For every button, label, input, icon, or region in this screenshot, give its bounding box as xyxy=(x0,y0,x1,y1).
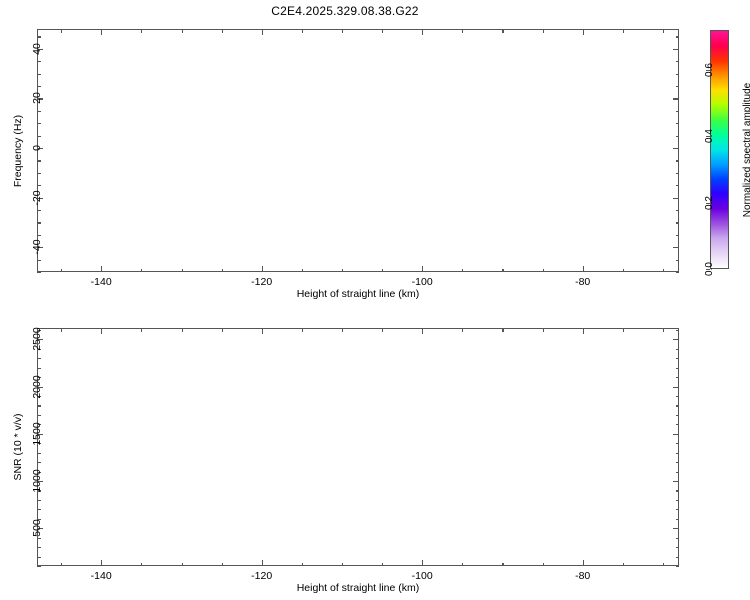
axis-tick xyxy=(222,328,223,332)
axis-tick xyxy=(61,328,62,332)
axis-tick xyxy=(37,136,41,137)
axis-tick xyxy=(663,328,664,332)
axis-tick xyxy=(673,148,679,149)
axis-tick xyxy=(37,500,41,501)
axis-tick xyxy=(676,123,680,124)
axis-tick xyxy=(663,563,664,567)
axis-tick xyxy=(37,36,41,37)
axis-tick xyxy=(37,123,41,124)
colorbar-tick-label: 0.0 xyxy=(704,262,715,276)
axis-tick xyxy=(673,98,679,99)
axis-tick xyxy=(101,29,102,35)
axis-tick xyxy=(676,405,680,406)
axis-tick xyxy=(182,29,183,33)
axis-tick xyxy=(342,269,343,273)
axis-tick xyxy=(222,269,223,273)
axis-tick xyxy=(676,443,680,444)
axis-tick xyxy=(37,405,41,406)
axis-tick xyxy=(583,29,584,35)
axis-tick xyxy=(222,563,223,567)
x-tick-label: -100 xyxy=(412,570,433,582)
axis-tick xyxy=(502,269,503,273)
x-tick-label: -100 xyxy=(412,276,433,288)
axis-tick xyxy=(37,538,41,539)
axis-tick xyxy=(673,247,679,248)
axis-tick xyxy=(302,29,303,33)
axis-tick xyxy=(583,328,584,334)
colorbar-tick-label: 0.6 xyxy=(704,63,715,77)
axis-tick xyxy=(502,328,503,332)
axis-tick xyxy=(676,472,680,473)
axis-tick xyxy=(663,269,664,273)
axis-tick xyxy=(342,328,343,332)
axis-tick xyxy=(422,328,423,334)
x-tick-label: -140 xyxy=(91,276,112,288)
axis-tick xyxy=(37,415,41,416)
axis-tick xyxy=(673,528,679,529)
axis-tick xyxy=(676,61,680,62)
colorbar-tick-label: 0.2 xyxy=(704,196,715,210)
axis-tick xyxy=(382,29,383,33)
x-tick-label: -120 xyxy=(251,276,272,288)
spectrogram-frame xyxy=(37,29,679,272)
y-tick-label: 20 xyxy=(31,93,43,105)
axis-tick xyxy=(502,29,503,33)
axis-tick xyxy=(543,269,544,273)
axis-tick xyxy=(422,266,423,272)
y-tick-label: 2000 xyxy=(31,375,43,398)
axis-tick xyxy=(676,272,680,273)
axis-tick xyxy=(262,266,263,272)
axis-tick xyxy=(623,269,624,273)
axis-tick xyxy=(141,563,142,567)
axis-tick xyxy=(101,328,102,334)
axis-tick xyxy=(673,339,679,340)
axis-tick xyxy=(37,453,41,454)
axis-tick xyxy=(676,547,680,548)
axis-tick xyxy=(382,328,383,332)
axis-tick xyxy=(141,269,142,273)
axis-tick xyxy=(37,358,41,359)
axis-tick xyxy=(676,509,680,510)
axis-tick xyxy=(222,29,223,33)
y-tick-label: 0 xyxy=(31,145,43,151)
x-tick-label: -80 xyxy=(575,276,590,288)
axis-tick xyxy=(302,328,303,332)
axis-tick xyxy=(141,328,142,332)
axis-tick xyxy=(37,173,41,174)
axis-tick xyxy=(37,462,41,463)
axis-tick xyxy=(623,563,624,567)
axis-tick xyxy=(182,563,183,567)
axis-tick xyxy=(462,328,463,332)
axis-tick xyxy=(676,462,680,463)
axis-tick xyxy=(676,415,680,416)
axis-tick xyxy=(37,547,41,548)
axis-tick xyxy=(676,500,680,501)
colorbar-tick-label: 0.4 xyxy=(704,129,715,143)
figure-title: C2E4.2025.329.08.38.G22 xyxy=(0,4,690,18)
y-tick-label: -20 xyxy=(31,190,43,205)
axis-tick xyxy=(676,557,680,558)
axis-tick xyxy=(623,328,624,332)
axis-tick xyxy=(37,222,41,223)
axis-tick xyxy=(676,185,680,186)
y-tick-label: 40 xyxy=(31,43,43,55)
axis-tick xyxy=(676,74,680,75)
y-tick-label: -40 xyxy=(31,240,43,255)
axis-tick xyxy=(462,269,463,273)
axis-tick xyxy=(61,269,62,273)
snr-frame xyxy=(37,328,679,566)
axis-tick xyxy=(342,29,343,33)
axis-tick xyxy=(37,260,41,261)
axis-tick xyxy=(676,160,680,161)
axis-tick xyxy=(676,349,680,350)
axis-tick xyxy=(673,198,679,199)
axis-tick xyxy=(676,111,680,112)
axis-tick xyxy=(37,74,41,75)
axis-tick xyxy=(262,560,263,566)
axis-tick xyxy=(676,396,680,397)
axis-tick xyxy=(382,269,383,273)
axis-tick xyxy=(37,160,41,161)
axis-tick xyxy=(37,566,41,567)
axis-tick xyxy=(37,111,41,112)
axis-tick xyxy=(37,235,41,236)
axis-tick xyxy=(583,560,584,566)
axis-tick xyxy=(543,29,544,33)
axis-tick xyxy=(623,29,624,33)
axis-tick xyxy=(61,29,62,33)
spectrogram-yaxis-title: Frequency (Hz) xyxy=(12,115,24,187)
axis-tick xyxy=(676,538,680,539)
axis-tick xyxy=(182,269,183,273)
axis-tick xyxy=(37,61,41,62)
axis-tick xyxy=(37,557,41,558)
axis-tick xyxy=(262,328,263,334)
axis-tick xyxy=(37,368,41,369)
axis-tick xyxy=(422,560,423,566)
axis-tick xyxy=(676,424,680,425)
axis-tick xyxy=(663,29,664,33)
axis-tick xyxy=(583,266,584,272)
axis-tick xyxy=(502,563,503,567)
axis-tick xyxy=(676,377,680,378)
spectrogram-panel xyxy=(37,29,679,272)
axis-tick xyxy=(182,328,183,332)
axis-tick xyxy=(37,210,41,211)
axis-tick xyxy=(676,566,680,567)
x-tick-label: -120 xyxy=(251,570,272,582)
axis-tick xyxy=(676,490,680,491)
axis-tick xyxy=(673,434,679,435)
axis-tick xyxy=(37,185,41,186)
axis-tick xyxy=(37,509,41,510)
axis-tick xyxy=(676,36,680,37)
axis-tick xyxy=(37,272,41,273)
snr-panel xyxy=(37,328,679,566)
colorbar-title: Normalized spectral amplitude xyxy=(742,83,750,218)
x-tick-label: -140 xyxy=(91,570,112,582)
axis-tick xyxy=(676,136,680,137)
axis-tick xyxy=(302,269,303,273)
axis-tick xyxy=(462,563,463,567)
y-tick-label: 500 xyxy=(31,519,43,537)
axis-tick xyxy=(342,563,343,567)
axis-tick xyxy=(101,266,102,272)
spectrogram-xaxis-title: Height of straight line (km) xyxy=(297,288,420,300)
axis-tick xyxy=(676,368,680,369)
axis-tick xyxy=(422,29,423,35)
y-tick-label: 1000 xyxy=(31,469,43,492)
axis-tick xyxy=(141,29,142,33)
axis-tick xyxy=(676,173,680,174)
axis-tick xyxy=(543,563,544,567)
axis-tick xyxy=(37,86,41,87)
axis-tick xyxy=(676,222,680,223)
axis-tick xyxy=(676,330,680,331)
axis-tick xyxy=(676,358,680,359)
x-tick-label: -80 xyxy=(575,570,590,582)
axis-tick xyxy=(676,235,680,236)
axis-tick xyxy=(673,49,679,50)
axis-tick xyxy=(673,481,679,482)
axis-tick xyxy=(676,210,680,211)
axis-tick xyxy=(61,563,62,567)
y-tick-label: 1500 xyxy=(31,422,43,445)
axis-tick xyxy=(101,560,102,566)
axis-tick xyxy=(676,519,680,520)
axis-tick xyxy=(676,453,680,454)
axis-tick xyxy=(302,563,303,567)
axis-tick xyxy=(262,29,263,35)
snr-yaxis-title: SNR (10 * v/v) xyxy=(12,413,24,480)
axis-tick xyxy=(676,260,680,261)
axis-tick xyxy=(676,86,680,87)
axis-tick xyxy=(382,563,383,567)
snr-xaxis-title: Height of straight line (km) xyxy=(297,582,420,594)
y-tick-label: 2500 xyxy=(31,328,43,351)
axis-tick xyxy=(543,328,544,332)
axis-tick xyxy=(673,387,679,388)
axis-tick xyxy=(462,29,463,33)
